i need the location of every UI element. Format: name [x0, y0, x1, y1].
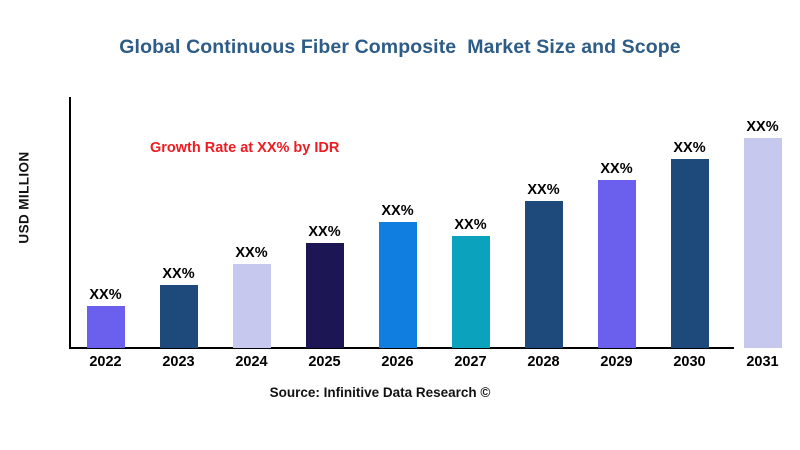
bar-group: XX%	[580, 97, 653, 348]
bar-group: XX%	[653, 97, 726, 348]
bar-group: XX%	[726, 97, 799, 348]
bar-value-label-2029: XX%	[580, 161, 654, 177]
bar-value-label-2030: XX%	[653, 140, 727, 156]
x-tick-2029: 2029	[580, 354, 653, 370]
bar-2023[interactable]	[160, 285, 198, 348]
bar-group: XX%	[215, 97, 288, 348]
x-tick-2031: 2031	[726, 354, 799, 370]
bar-2028[interactable]	[525, 201, 563, 348]
bar-group: XX%	[434, 97, 507, 348]
bar-2029[interactable]	[598, 180, 636, 348]
bar-2026[interactable]	[379, 222, 417, 348]
bar-value-label-2031: XX%	[726, 119, 800, 135]
bar-2031[interactable]	[744, 138, 782, 348]
x-axis-tick-labels: 2022202320242025202620272028202920302031	[69, 354, 800, 376]
market-size-bar-chart: Global Continuous Fiber Composite Market…	[0, 0, 800, 450]
bar-2025[interactable]	[306, 243, 344, 348]
y-axis-label: USD MILLION	[14, 108, 34, 288]
bar-group: XX%	[69, 97, 142, 348]
chart-title: Global Continuous Fiber Composite Market…	[0, 36, 800, 59]
x-tick-2030: 2030	[653, 354, 726, 370]
bar-2024[interactable]	[233, 264, 271, 348]
bar-value-label-2028: XX%	[507, 182, 581, 198]
bar-2022[interactable]	[87, 306, 125, 348]
x-tick-2022: 2022	[69, 354, 142, 370]
bar-group: XX%	[507, 97, 580, 348]
bar-value-label-2025: XX%	[288, 224, 362, 240]
plot-area: XX%XX%XX%XX%XX%XX%XX%XX%XX%XX%	[69, 97, 800, 348]
x-tick-2024: 2024	[215, 354, 288, 370]
bar-group: XX%	[361, 97, 434, 348]
y-axis-label-text: USD MILLION	[17, 140, 32, 256]
x-tick-2026: 2026	[361, 354, 434, 370]
bar-2030[interactable]	[671, 159, 709, 348]
bar-value-label-2026: XX%	[361, 203, 435, 219]
bar-value-label-2023: XX%	[142, 266, 216, 282]
bar-group: XX%	[288, 97, 361, 348]
source-note: Source: Infinitive Data Research ©	[0, 385, 760, 400]
bar-value-label-2024: XX%	[215, 245, 289, 261]
x-tick-2027: 2027	[434, 354, 507, 370]
bar-value-label-2022: XX%	[69, 287, 143, 303]
bar-value-label-2027: XX%	[434, 217, 508, 233]
x-tick-2025: 2025	[288, 354, 361, 370]
x-tick-2023: 2023	[142, 354, 215, 370]
x-tick-2028: 2028	[507, 354, 580, 370]
bar-group: XX%	[142, 97, 215, 348]
bar-2027[interactable]	[452, 236, 490, 348]
